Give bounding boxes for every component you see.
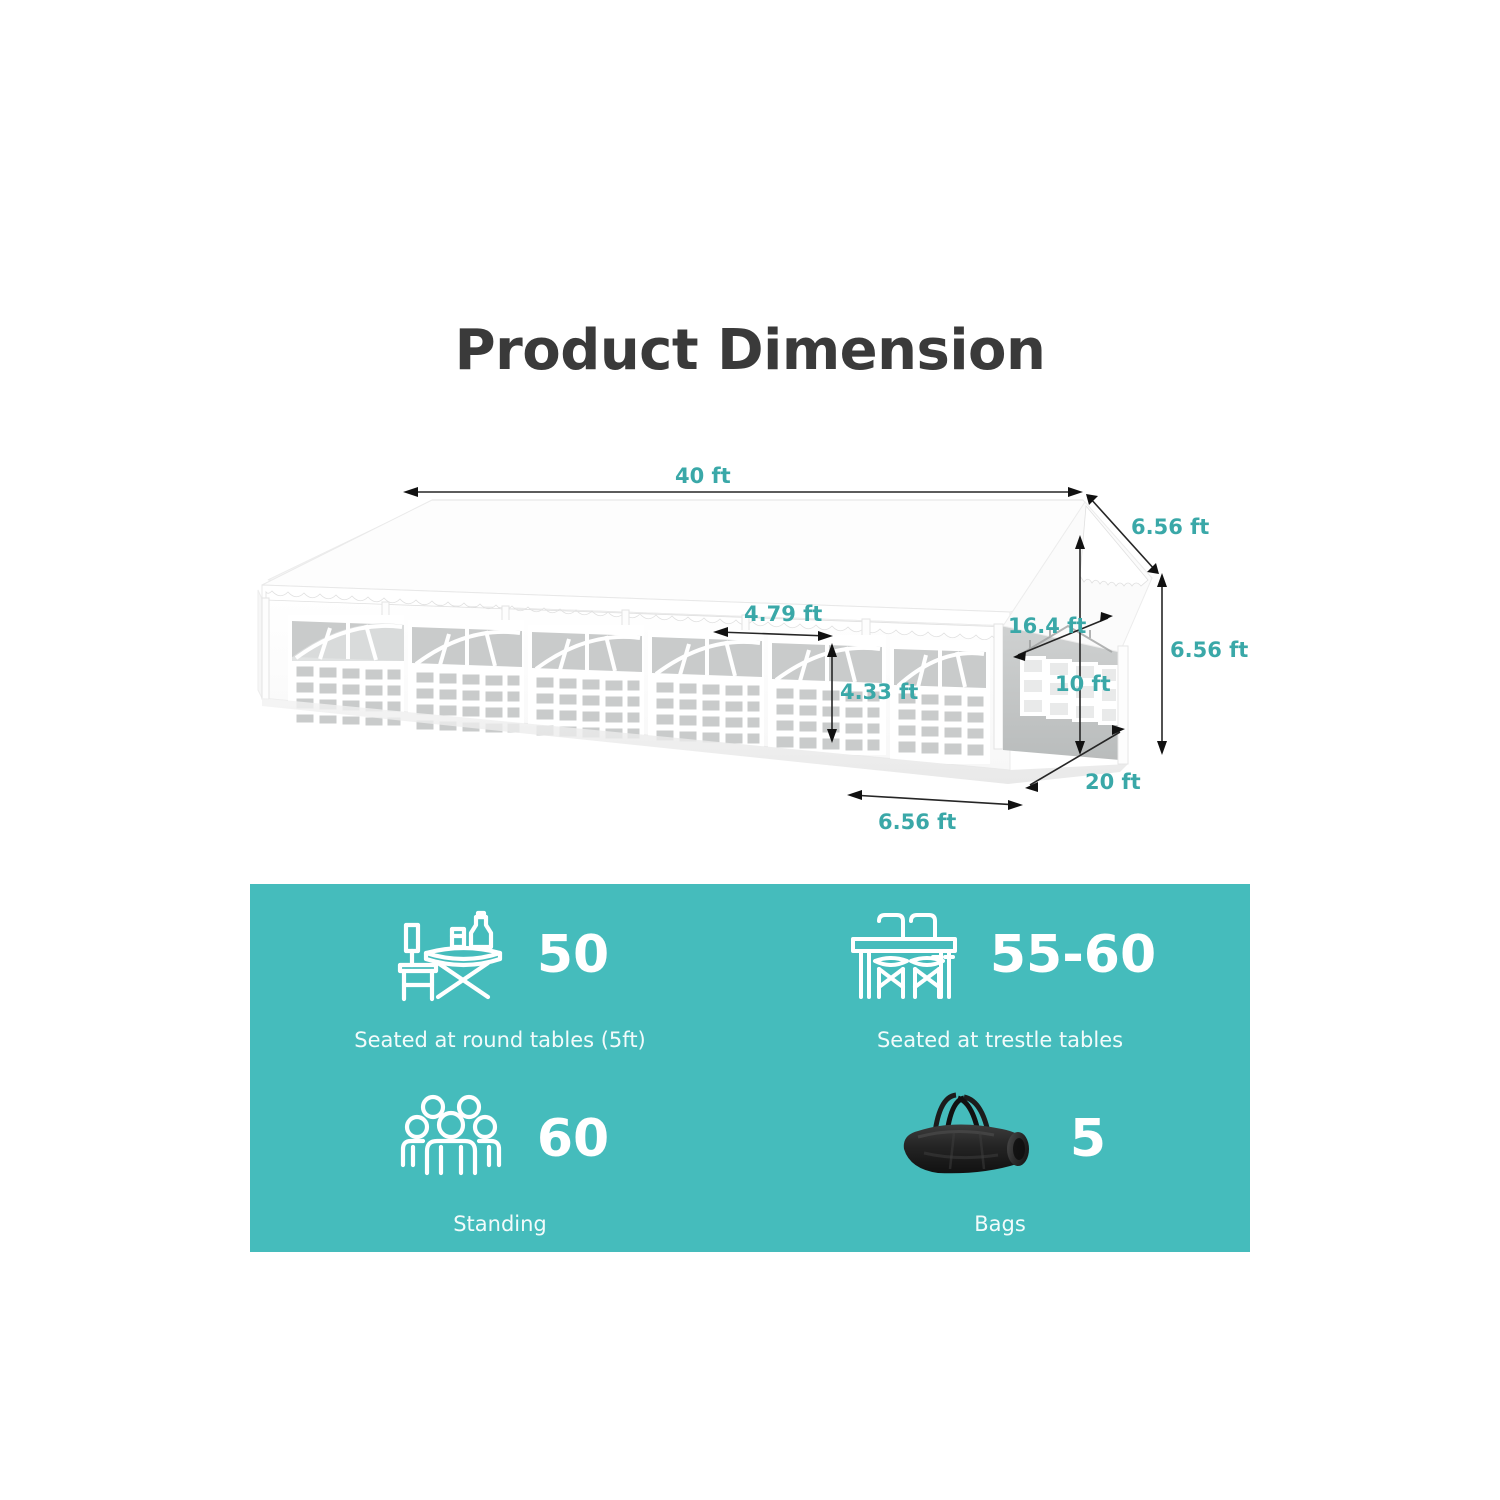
capacity-value: 5 — [1070, 1113, 1106, 1165]
trestle-table-icon — [844, 903, 964, 1007]
capacity-label: Seated at round tables (5ft) — [354, 1028, 646, 1052]
dim-label-roof-slope: 6.56 ft — [1131, 515, 1209, 539]
dim-label-depth: 20 ft — [1085, 770, 1141, 794]
duffel-bag-icon — [894, 1087, 1044, 1191]
product-dimension-infographic: Product Dimension — [0, 0, 1500, 1500]
tent-illustration: 40 ft 6.56 ft 6.56 ft 4.79 ft 4.33 ft 16… — [0, 440, 1500, 870]
page-title: Product Dimension — [0, 318, 1500, 383]
dim-label-peak-height: 10 ft — [1055, 672, 1111, 696]
capacity-label: Bags — [974, 1212, 1026, 1236]
dim-line-panel-width — [852, 795, 1018, 805]
dim-label-side-height: 6.56 ft — [1170, 638, 1248, 662]
dim-label-bay-width: 4.79 ft — [744, 602, 822, 626]
capacity-cell-standing: 60 Standing — [250, 1068, 750, 1252]
capacity-cell-trestle-tables: 55-60 Seated at trestle tables — [750, 884, 1250, 1068]
capacity-cell-bags: 5 Bags — [750, 1068, 1250, 1252]
window-bay — [528, 625, 644, 740]
capacity-cell-round-tables: 50 Seated at round tables (5ft) — [250, 884, 750, 1068]
dim-label-length: 40 ft — [675, 464, 731, 488]
tent-drawing — [0, 440, 1500, 870]
dim-label-panel-width: 6.56 ft — [878, 810, 956, 834]
capacity-value: 50 — [537, 929, 609, 981]
capacity-panel: 50 Seated at round tables (5ft) — [250, 884, 1250, 1252]
capacity-value: 55-60 — [990, 929, 1156, 981]
capacity-label: Standing — [453, 1212, 547, 1236]
people-group-icon — [391, 1087, 511, 1191]
dim-label-window-height: 4.33 ft — [840, 680, 918, 704]
capacity-label: Seated at trestle tables — [877, 1028, 1123, 1052]
dim-label-gable-slope: 16.4 ft — [1008, 614, 1086, 638]
capacity-value: 60 — [537, 1113, 609, 1165]
round-table-icon — [391, 903, 511, 1007]
tent-body — [258, 500, 1152, 784]
window-bay — [648, 630, 764, 747]
